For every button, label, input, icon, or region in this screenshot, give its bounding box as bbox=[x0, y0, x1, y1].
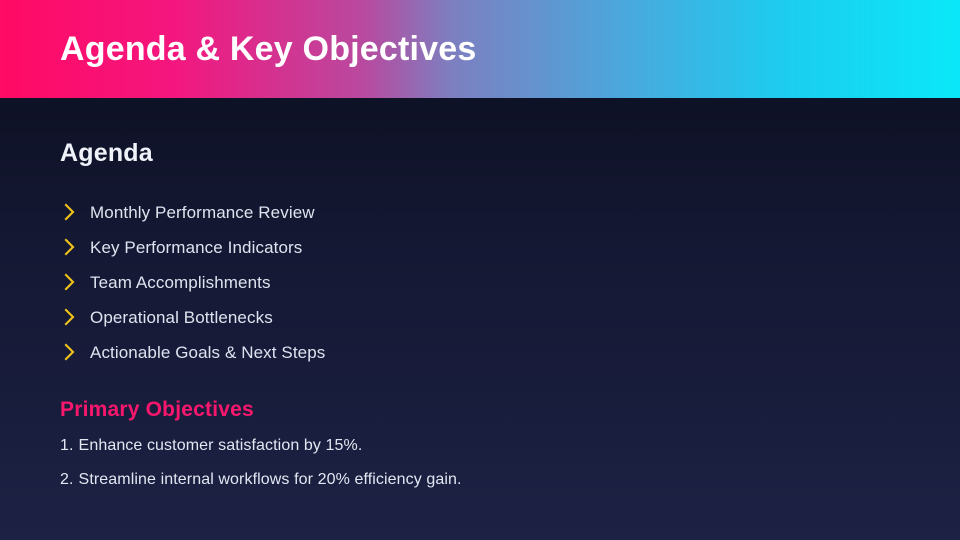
agenda-item-label: Monthly Performance Review bbox=[90, 204, 315, 221]
objectives-list: 1. Enhance customer satisfaction by 15%.… bbox=[60, 438, 900, 488]
objective-text: Streamline internal workflows for 20% ef… bbox=[79, 472, 462, 488]
agenda-item-label: Actionable Goals & Next Steps bbox=[90, 344, 325, 361]
list-item[interactable]: Monthly Performance Review bbox=[60, 195, 900, 230]
list-item[interactable]: Key Performance Indicators bbox=[60, 230, 900, 265]
agenda-item-label: Team Accomplishments bbox=[90, 274, 271, 291]
header-banner: Agenda & Key Objectives bbox=[0, 0, 960, 98]
slide-title: Agenda & Key Objectives bbox=[60, 32, 477, 66]
agenda-heading: Agenda bbox=[60, 140, 900, 168]
chevron-right-icon bbox=[60, 335, 90, 370]
chevron-right-icon bbox=[60, 195, 90, 230]
list-item[interactable]: Actionable Goals & Next Steps bbox=[60, 335, 900, 370]
slide-root: Agenda & Key Objectives Agenda Monthly P… bbox=[0, 0, 960, 540]
chevron-right-icon bbox=[60, 230, 90, 265]
agenda-item-label: Operational Bottlenecks bbox=[90, 309, 273, 326]
objective-text: Enhance customer satisfaction by 15%. bbox=[79, 438, 363, 454]
objective-number: 2. bbox=[60, 472, 74, 488]
slide-body: Agenda Monthly Performance Review Key Pe… bbox=[0, 98, 960, 540]
list-item[interactable]: Team Accomplishments bbox=[60, 265, 900, 300]
agenda-item-label: Key Performance Indicators bbox=[90, 239, 302, 256]
agenda-list: Monthly Performance Review Key Performan… bbox=[60, 195, 900, 370]
chevron-right-icon bbox=[60, 300, 90, 335]
objectives-heading: Primary Objectives bbox=[60, 398, 900, 421]
list-item: 1. Enhance customer satisfaction by 15%. bbox=[60, 438, 900, 454]
chevron-right-icon bbox=[60, 265, 90, 300]
list-item: 2. Streamline internal workflows for 20%… bbox=[60, 472, 900, 488]
list-item[interactable]: Operational Bottlenecks bbox=[60, 300, 900, 335]
objective-number: 1. bbox=[60, 438, 74, 454]
